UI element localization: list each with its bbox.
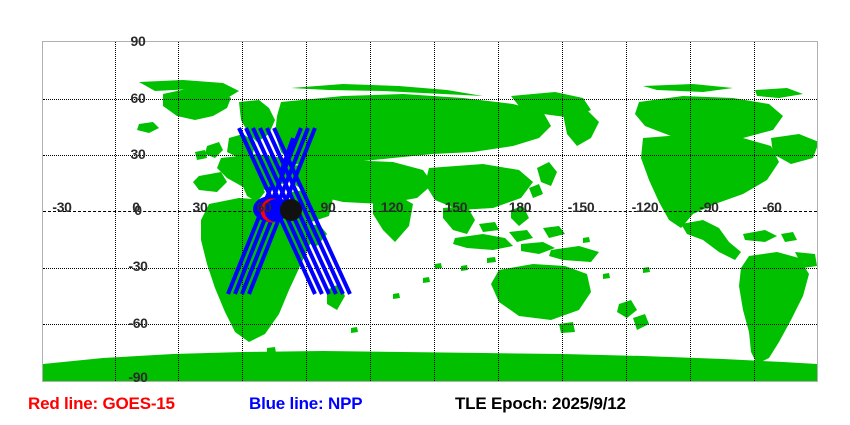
- gridline-lat--30: [43, 268, 817, 269]
- lon-tick--90: -90: [699, 199, 718, 215]
- lon-tick--120: -120: [632, 199, 659, 215]
- satellite-ground-track-map: -30 0 30 60 90 120 150 180 -150 -120 -90…: [0, 0, 850, 425]
- lon-tick--30: -30: [52, 199, 71, 215]
- lat-tick--90: -90: [128, 369, 147, 385]
- gridline-lat-60: [43, 99, 817, 100]
- lat-tick-60: 60: [131, 90, 146, 106]
- lon-tick-120: 120: [381, 199, 403, 215]
- lat-tick-90: 90: [131, 33, 146, 49]
- lat-tick--30: -30: [128, 258, 147, 274]
- lon-tick-90: 90: [321, 199, 336, 215]
- gridline-lat-30: [43, 155, 817, 156]
- legend-red-line-goes15: Red line: GOES-15: [28, 394, 175, 414]
- gridline-lat--60: [43, 324, 817, 325]
- lon-tick-30: 30: [193, 199, 208, 215]
- lat-tick-30: 30: [131, 146, 146, 162]
- lon-tick-150: 150: [445, 199, 467, 215]
- lat-tick-0: 0: [134, 202, 142, 218]
- legend-blue-line-npp: Blue line: NPP: [249, 394, 362, 414]
- legend-tle-epoch: TLE Epoch: 2025/9/12: [455, 394, 626, 414]
- lon-tick--150: -150: [568, 199, 595, 215]
- lat-tick--60: -60: [128, 315, 147, 331]
- lon-tick-180: 180: [509, 199, 531, 215]
- lon-tick--60: -60: [762, 199, 781, 215]
- lon-tick-60: 60: [257, 199, 272, 215]
- figure-legend: Red line: GOES-15 Blue line: NPP TLE Epo…: [0, 394, 850, 422]
